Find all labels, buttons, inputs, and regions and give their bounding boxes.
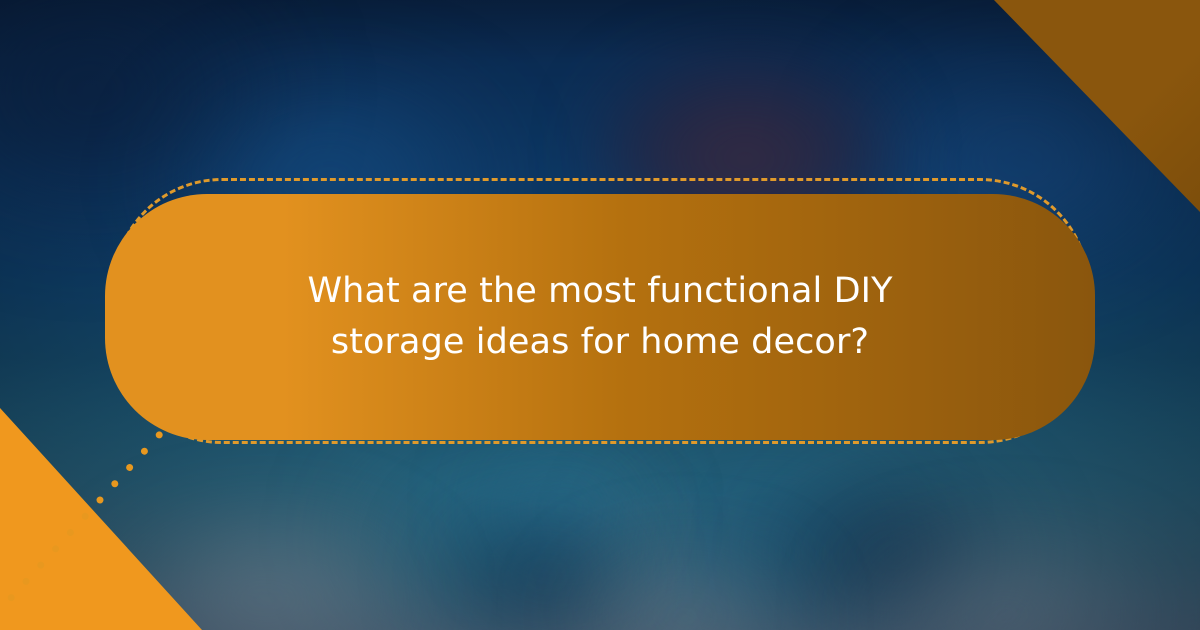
question-card: What are the most functional DIY storage…: [105, 194, 1095, 440]
og-card-image: What are the most functional DIY storage…: [0, 0, 1200, 630]
question-title: What are the most functional DIY storage…: [250, 266, 950, 368]
